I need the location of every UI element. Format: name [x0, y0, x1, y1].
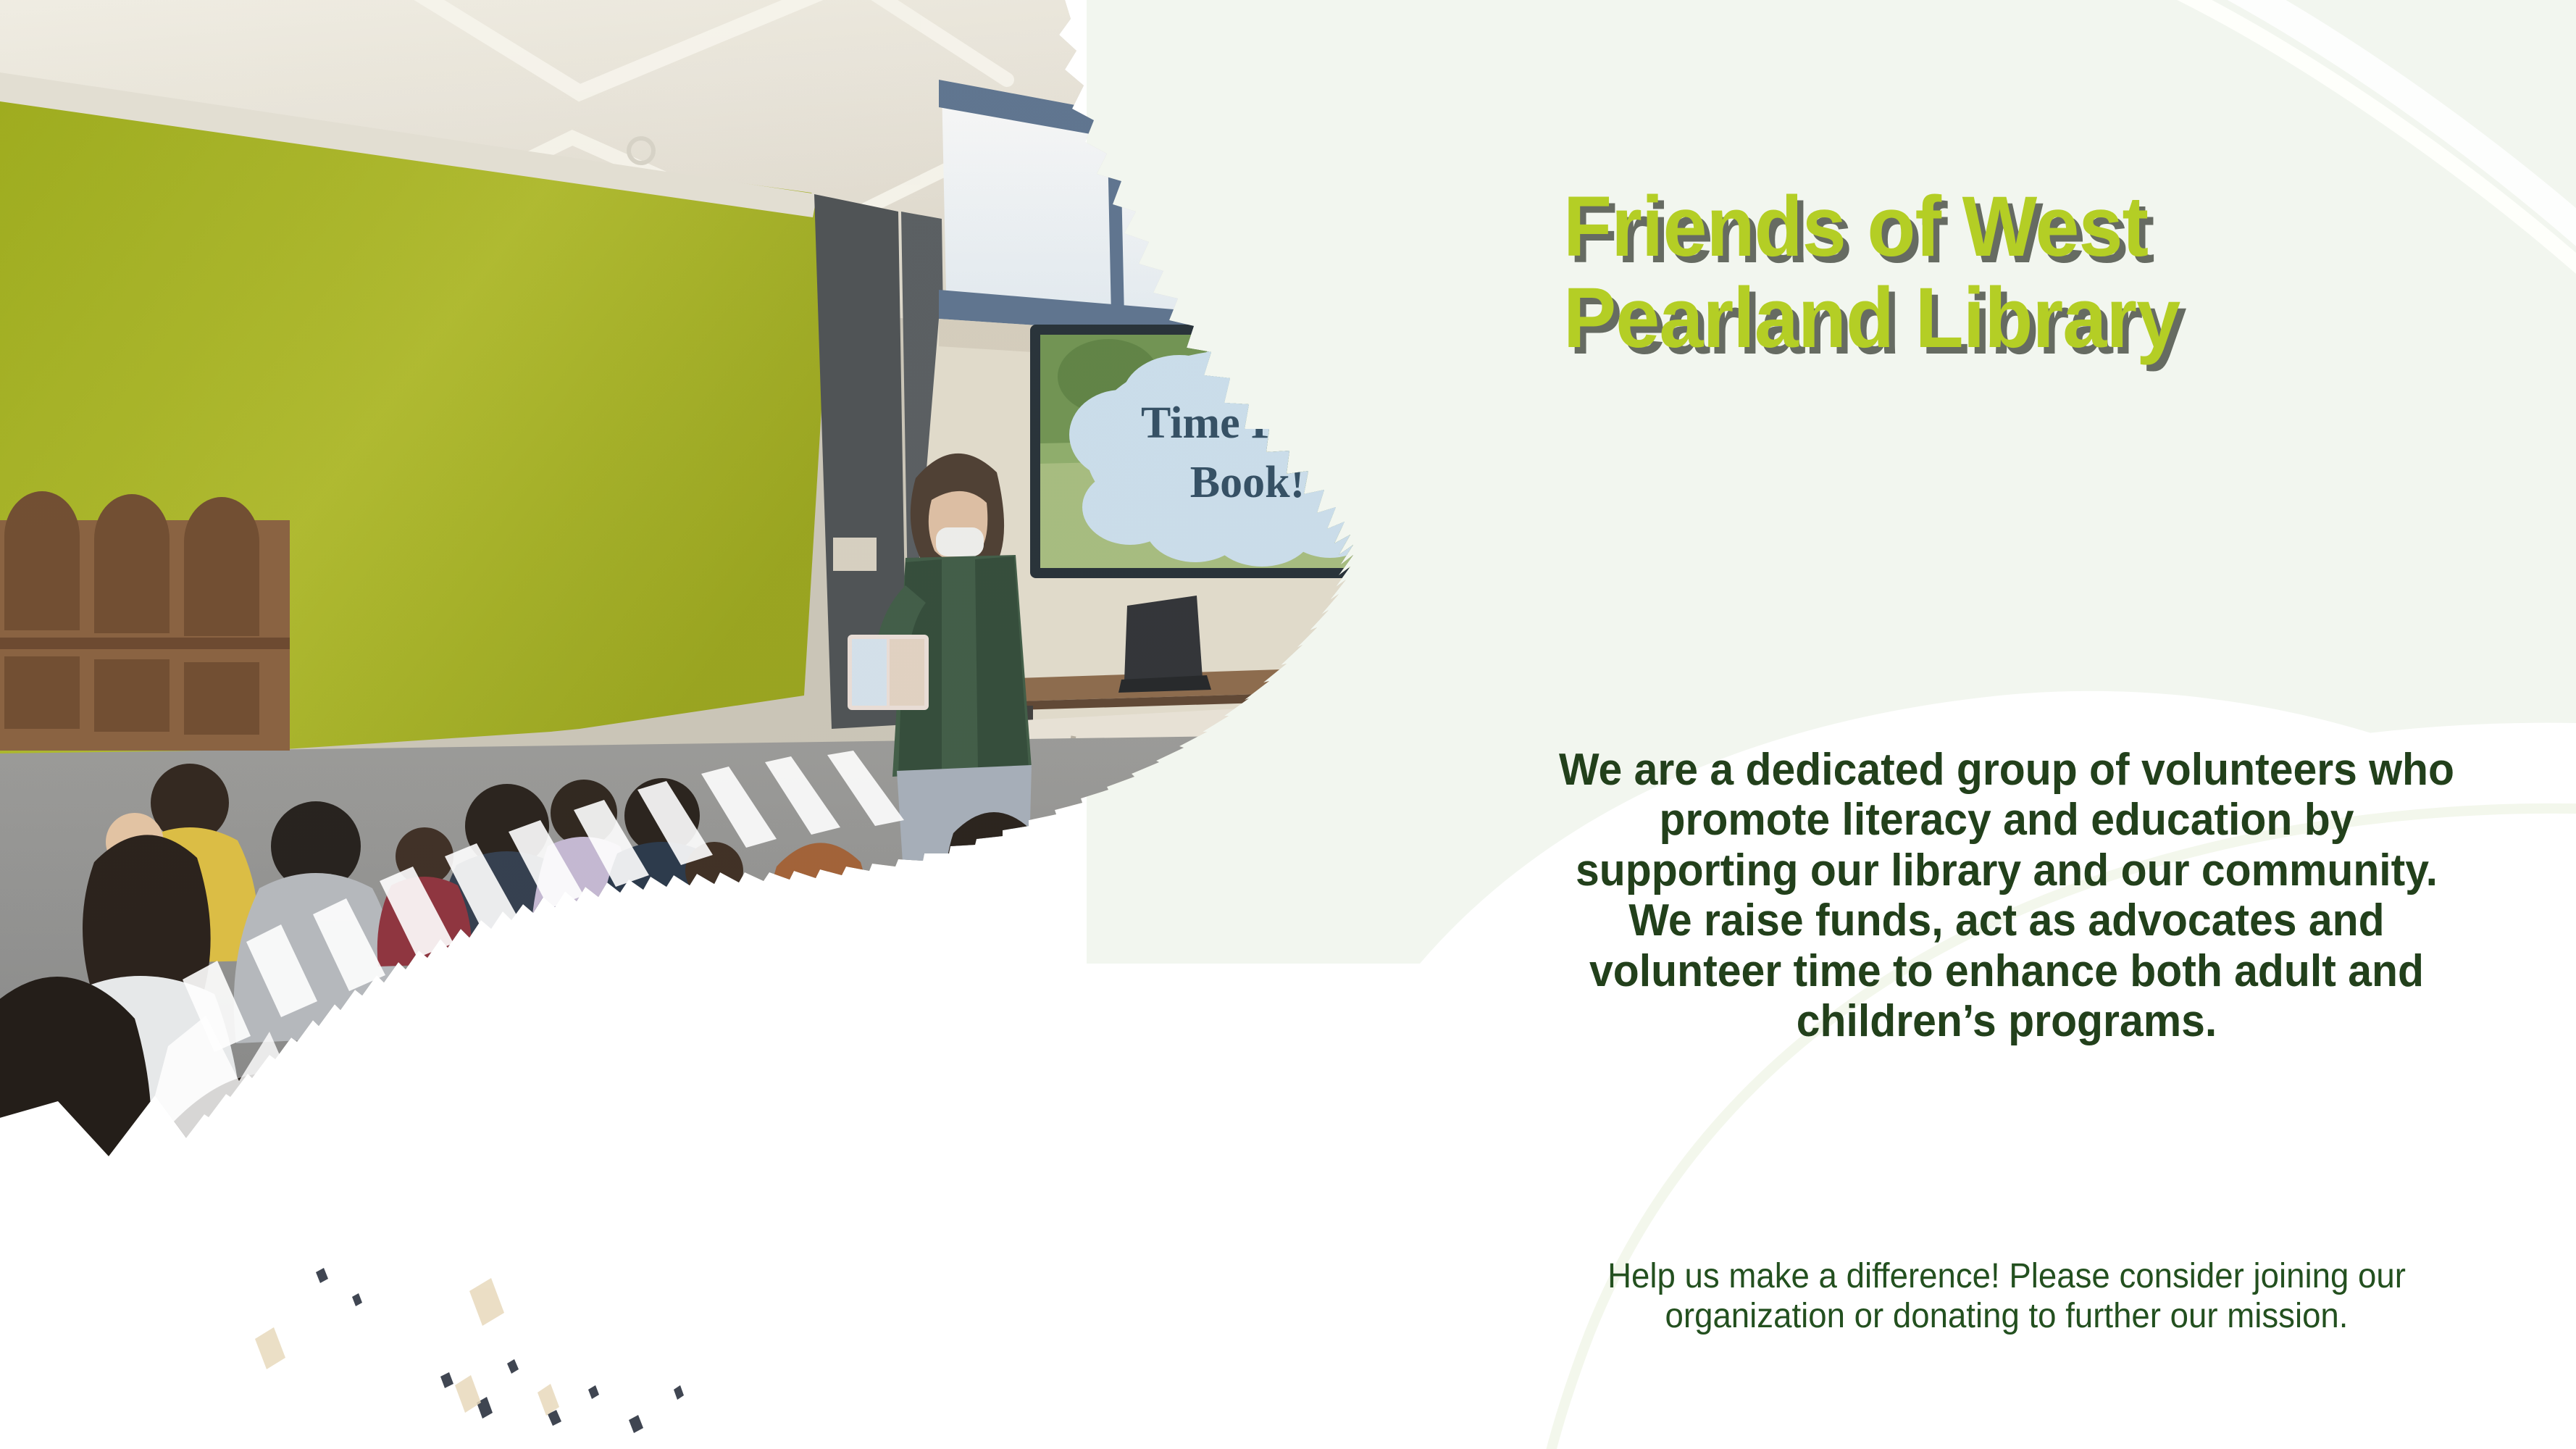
slide-root: Time For a Book! [0, 0, 2576, 1449]
page-title: Friends of West Pearland Library [1563, 181, 2372, 364]
text-column: Friends of West Pearland Library We are … [1478, 0, 2550, 1449]
call-to-action-text: Help us make a difference! Please consid… [1546, 1257, 2468, 1336]
library-program-photo: Time For a Book! [0, 0, 1434, 1449]
mission-paragraph: We are a dedicated group of volunteers w… [1546, 745, 2468, 1047]
